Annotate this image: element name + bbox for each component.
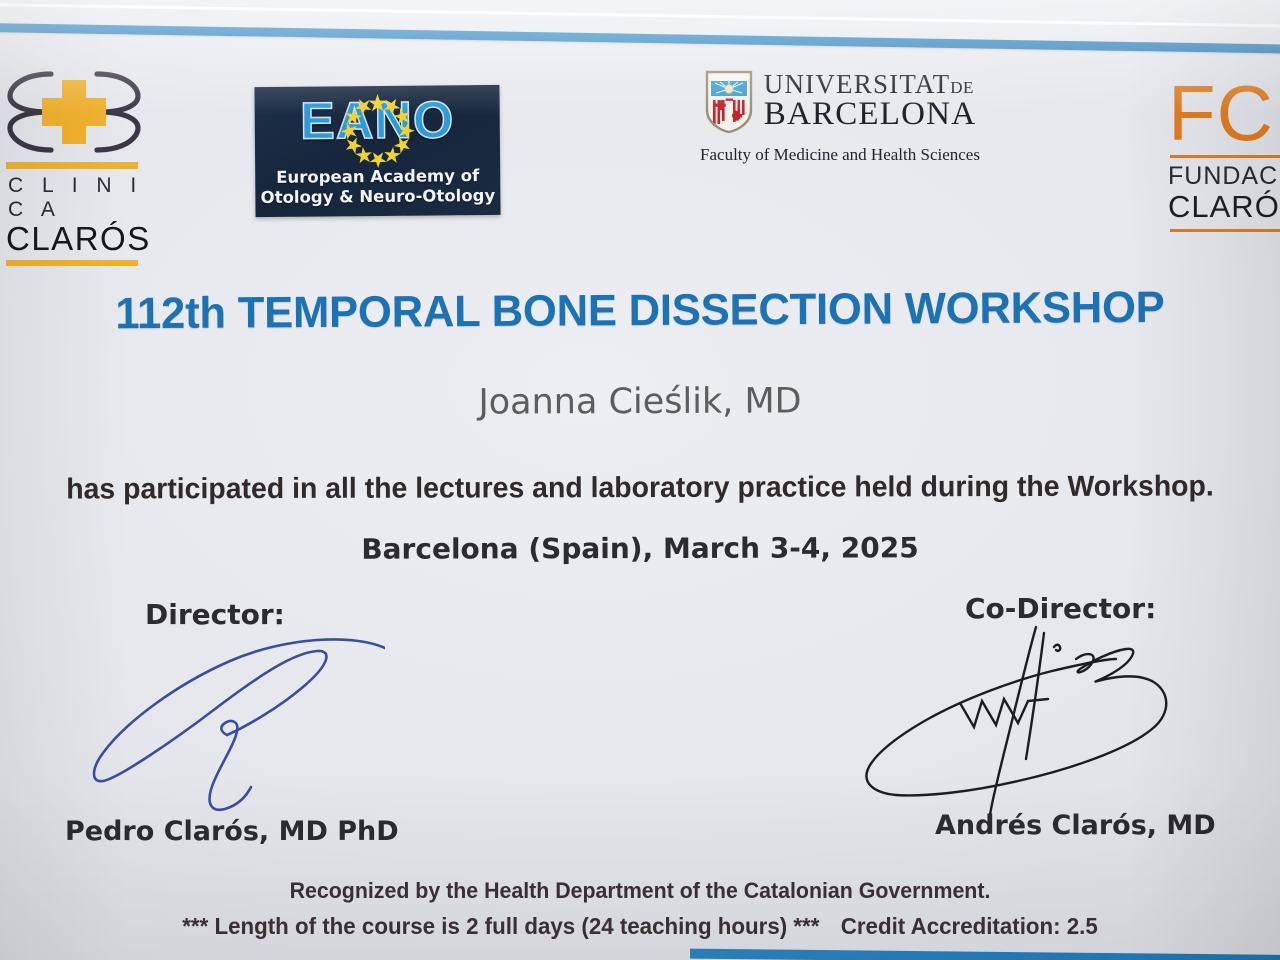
eu-stars-icon [338, 92, 417, 171]
director-signature-icon [55, 631, 475, 816]
ub-line1: UNIVERSITAT [764, 69, 951, 99]
certificate-page: C L I N I C A CLARÓS EANO [0, 0, 1280, 960]
eano-subtitle-line2: Otology & Neuro-Otology [255, 186, 500, 209]
co-director-role-label: Co-Director: [840, 592, 1240, 625]
recipient-name: Joanna Cieślik, MD [0, 380, 1280, 424]
clinica-claros-mark-icon [4, 66, 144, 158]
director-name: Pedro Clarós, MD PhD [55, 816, 475, 847]
footer-recognition: Recognized by the Health Department of t… [19, 878, 1261, 904]
logo-eano: EANO [255, 86, 500, 216]
director-role-label: Director: [55, 598, 475, 631]
co-director-signature-icon [840, 625, 1240, 810]
eano-subtitle: European Academy of Otology & Neuro-Otol… [255, 166, 500, 209]
ub-line2: BARCELONA [764, 98, 976, 131]
eano-subtitle-line1: European Academy of [255, 166, 500, 189]
signature-block-director: Director: Pedro Clarós, MD PhD [55, 598, 475, 847]
logo-clinica-claros: C L I N I C A CLARÓS [4, 66, 150, 271]
clinica-claros-line1: C L I N I C A [4, 174, 150, 222]
clinica-claros-line2: CLARÓS [4, 222, 150, 256]
fundacion-claros-rule-bottom [1170, 229, 1280, 232]
clinica-claros-top-rule [6, 162, 138, 169]
fundacion-claros-line1: FUNDACIÓN [1168, 162, 1280, 191]
place-and-date: Barcelona (Spain), March 3-4, 2025 [0, 530, 1280, 566]
footer-course-details: *** Length of the course is 2 full days … [19, 913, 1261, 940]
signature-block-co-director: Co-Director: Andrés Clarós, MD [840, 592, 1240, 841]
logo-fundacion-claros: FC FUNDACIÓN CLARÓS [1168, 76, 1280, 236]
ub-wordmark: UNIVERSITATDE BARCELONA [764, 71, 976, 131]
logo-universitat-barcelona: UNIVERSITATDE BARCELONA Faculty of Medic… [690, 68, 990, 165]
certificate-title: 112th TEMPORAL BONE DISSECTION WORKSHOP [6, 282, 1273, 340]
ub-faculty-label: Faculty of Medicine and Health Sciences [690, 145, 990, 165]
clinica-claros-bottom-rule [6, 260, 138, 266]
fundacion-claros-monogram: FC [1168, 76, 1280, 150]
logo-row: C L I N I C A CLARÓS EANO [0, 58, 1280, 248]
participation-statement: has participated in all the lectures and… [13, 470, 1267, 506]
ub-line1-small: DE [950, 78, 974, 97]
certificate-footer: Recognized by the Health Department of t… [0, 878, 1280, 940]
footer-length-note: *** Length of the course is 2 full days … [182, 913, 819, 939]
ub-coat-of-arms-icon [704, 68, 754, 134]
fundacion-claros-line2: CLARÓS [1168, 191, 1280, 224]
footer-credit: Credit Accreditation: 2.5 [841, 913, 1098, 939]
